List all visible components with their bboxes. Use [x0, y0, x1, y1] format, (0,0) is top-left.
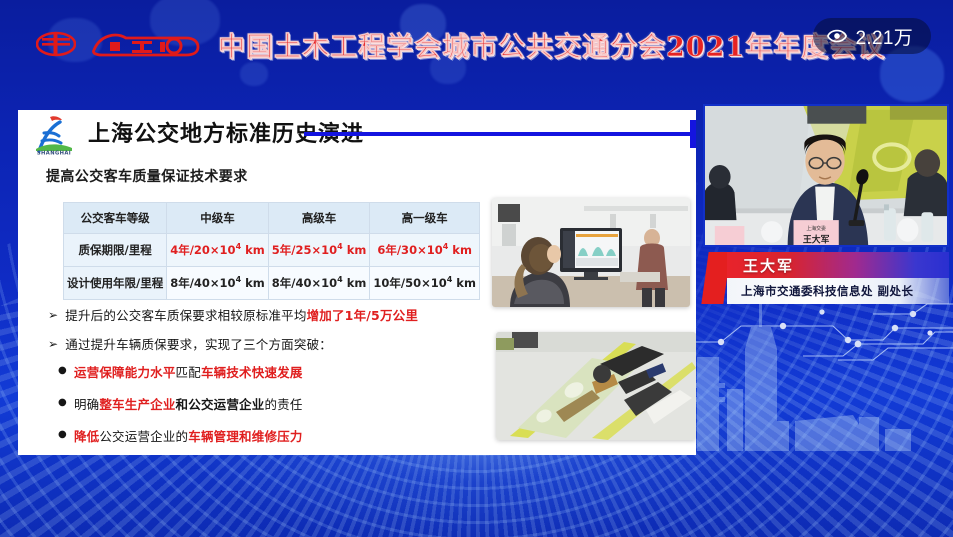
table-row-label: 质保期限/里程	[64, 234, 167, 267]
svg-text:王大军: 王大军	[803, 234, 830, 246]
bullet-text: 通过提升车辆质保要求，实现了三个方面突破：	[65, 337, 332, 353]
table-header-cell: 中级车	[167, 203, 269, 234]
bullet-text-run: 车辆技术快速发展	[201, 365, 303, 380]
bullet-text-run: 整车生产企业	[99, 397, 175, 412]
viewer-count-badge: 2.21万	[813, 18, 931, 54]
bullet-marker-icon: ➢	[48, 308, 58, 323]
bullet-marker-icon: ➢	[48, 337, 58, 352]
bullet-text-run: 匹配	[176, 365, 201, 380]
bullet-text-run: 公交运营企业的	[99, 429, 188, 444]
warranty-spec-table: 公交客车等级中级车高级车高一级车质保期限/里程4年/20×104 km5年/25…	[63, 202, 480, 300]
table-cell: 10年/50×104 km	[370, 267, 480, 300]
speaker-name: 王大军	[743, 255, 794, 276]
table-header-cell: 高一级车	[370, 203, 480, 234]
svg-text:SHANGHAI: SHANGHAI	[37, 151, 71, 157]
bullet-text-run: 通过提升车辆质保要求，实现了三个方面突破：	[65, 337, 332, 352]
header-logos	[36, 30, 200, 58]
china-civil-engineering-society-logo	[36, 31, 76, 57]
table-header-cell: 公交客车等级	[64, 203, 167, 234]
shanghai-transport-logo: SHANGHAI	[30, 113, 78, 157]
bullet-text: 明确整车生产企业和公交运营企业的责任	[74, 397, 303, 413]
bullet-text-run: 增加了1年/5万公里	[307, 308, 418, 323]
bullet-list: ➢提升后的公交客车质保要求相较原标准平均增加了1年/5万公里➢通过提升车辆质保要…	[48, 308, 448, 455]
speaker-name-row: 王大军	[727, 252, 949, 278]
slide-subtitle: 提高公交客车质量保证技术要求	[46, 166, 696, 186]
table-cell: 6年/30×104 km	[370, 234, 480, 267]
table-row-label: 设计使用年限/里程	[64, 267, 167, 300]
live-speaker-video[interactable]: 上海交委 王大军	[703, 104, 949, 247]
title-underline	[304, 132, 696, 136]
bullet-text: 提升后的公交客车质保要求相较原标准平均增加了1年/5万公里	[65, 308, 418, 324]
speaker-nameplate: 王大军 上海市交通委科技信息处 副处长	[705, 252, 949, 304]
eye-icon	[827, 29, 847, 43]
svg-text:上海交委: 上海交委	[806, 225, 826, 232]
urban-public-transport-branch-logo	[90, 30, 200, 58]
page-title: 中国土木工程学会城市公共交通分会2021年年度会议	[218, 25, 885, 64]
table-cell: 8年/40×104 km	[268, 267, 370, 300]
bullet-text-run: 的责任	[264, 397, 302, 412]
slide-header: SHANGHAI 上海公交地方标准历史演进	[18, 110, 696, 158]
table-cell: 8年/40×104 km	[167, 267, 269, 300]
table-row: 设计使用年限/里程8年/40×104 km8年/40×104 km10年/50×…	[64, 267, 480, 300]
bullet-text: 降低公交运营企业的车辆管理和维修压力	[74, 429, 303, 445]
speaker-title-row: 上海市交通委科技信息处 副处长	[727, 278, 949, 304]
bullet-item: ➢通过提升车辆质保要求，实现了三个方面突破：	[48, 337, 448, 353]
bullet-item: ●运营保障能力水平匹配车辆技术快速发展	[48, 365, 448, 381]
bullet-item: ➢提升后的公交客车质保要求相较原标准平均增加了1年/5万公里	[48, 308, 448, 324]
bullet-text: 运营保障能力水平匹配车辆技术快速发展	[74, 365, 303, 381]
speaker-title: 上海市交通委科技信息处 副处长	[741, 283, 914, 299]
bullet-marker-icon: ●	[58, 429, 67, 442]
vehicle-assembly-photo	[496, 332, 696, 440]
presentation-slide: SHANGHAI 上海公交地方标准历史演进 提高公交客车质量保证技术要求 公交客…	[18, 110, 696, 455]
table-cell: 4年/20×104 km	[167, 234, 269, 267]
bullet-item: ●降低公交运营企业的车辆管理和维修压力	[48, 429, 448, 445]
viewer-count-label: 2.21万	[856, 23, 913, 50]
bullet-marker-icon: ●	[58, 397, 67, 410]
table-row: 质保期限/里程4年/20×104 km5年/25×104 km6年/30×104…	[64, 234, 480, 267]
bullet-item: ●明确整车生产企业和公交运营企业的责任	[48, 397, 448, 413]
table-header-cell: 高级车	[268, 203, 370, 234]
stream-header: 中国土木工程学会城市公共交通分会2021年年度会议 2.21万	[0, 0, 953, 88]
bullet-text-run: 车辆管理和维修压力	[188, 429, 302, 444]
bullet-text-run: 和公交运营企业	[176, 397, 265, 412]
bullet-text-run: 提升后的公交客车质保要求相较原标准平均	[65, 308, 306, 323]
table-header-row: 公交客车等级中级车高级车高一级车	[64, 203, 480, 234]
bullet-marker-icon: ●	[58, 365, 67, 378]
office-analytics-photo	[492, 198, 690, 307]
bullet-text-run: 运营保障能力水平	[74, 365, 176, 380]
bullet-text-run: 明确	[74, 397, 99, 412]
table-cell: 5年/25×104 km	[268, 234, 370, 267]
bullet-text-run: 降低	[74, 429, 99, 444]
